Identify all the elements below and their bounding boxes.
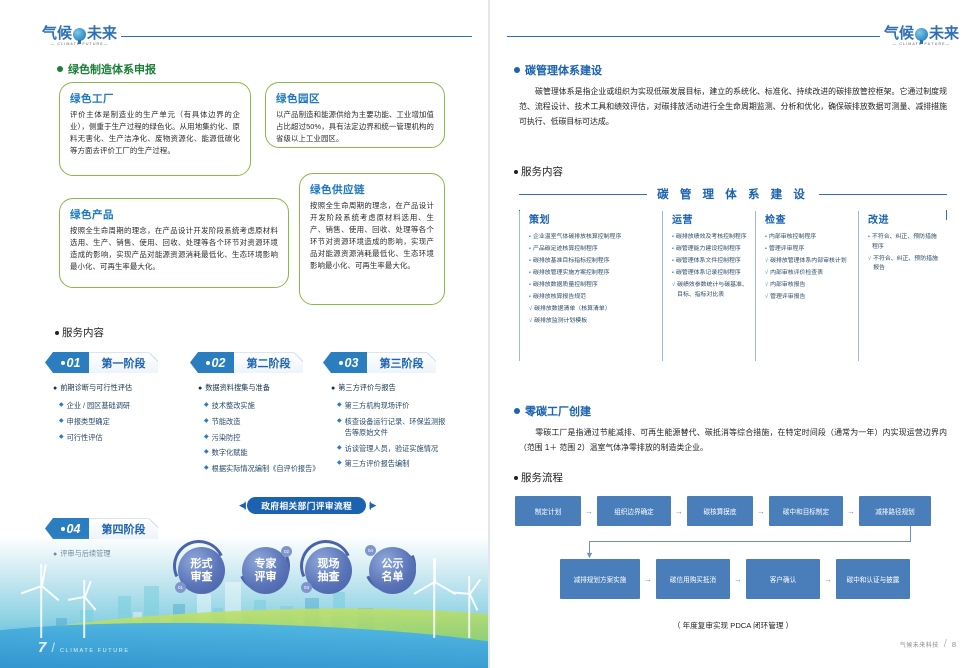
globe-leaf-icon (915, 28, 928, 41)
section-heading-carbon-management: 碳管理体系建设 (514, 62, 602, 78)
diamond-icon: ◆ (337, 416, 342, 427)
wind-turbine-icon (28, 564, 54, 638)
list-item-lead: ● 前期诊断与可行性评估 (45, 382, 185, 395)
column-header: 运营 (672, 211, 749, 226)
review-circle-badge-02: 02 (281, 546, 292, 557)
stage-02: 02 第二阶段 ● 数据资料搜集与准备 ◆ 技术整改实施 ◆ 节能 (190, 352, 318, 479)
subheading-service-flow: 服务流程 (514, 470, 563, 485)
card-body: 评价主体是制造业的生产单元（有具体边界的企业），侧重于生产过程的绿色化。从用地集… (70, 109, 240, 157)
diamond-icon: ◆ (337, 458, 342, 469)
diamond-icon: ◆ (204, 432, 209, 443)
subheading-label: 服务流程 (521, 470, 563, 485)
card-green-park: 绿色园区 以产品制造和能源供给为主要功能、工业增加值占比超过50%，具有法定边界… (265, 82, 445, 148)
wind-turbine-icon (74, 580, 94, 638)
stage-item-list: ● 第三方评价与报告 ◆ 第三方机构现场评价 ◆ 核查设备运行记录、环保监测报告… (323, 382, 451, 470)
list-item-lead: ● 第三方评价与报告 (323, 382, 451, 395)
footer-company-name: 气候未来科技 (900, 640, 939, 649)
column-list: ▪碳排放绩效及考核控制程序 ▪碳管理能力建设控制程序 ▪碳管理体系文件控制程序 … (672, 233, 749, 300)
review-circle-badge-01: 01 (175, 582, 186, 593)
list-item: √碳绩效参数统计与碳基准、目标、指标对比表 (672, 281, 749, 300)
stage-label-text: 第四阶段 (102, 521, 146, 537)
paragraph-carbon-management: 碳管理体系是指企业或组织为实现低碳发展目标，建立的系统化、标准化、持续改进的碳排… (519, 84, 947, 130)
logo-text-cn-b: 未来 (929, 26, 959, 41)
globe-leaf-icon (73, 28, 86, 41)
list-item: √管理评审报告 (765, 293, 852, 303)
arrow-right-icon: → (581, 507, 597, 516)
page-number: 8 (952, 640, 956, 649)
list-item: ▪碳管理体系记录控制程序 (672, 269, 749, 279)
flow-node: 碳中和认证与披露 (836, 559, 910, 599)
bullet-icon (514, 476, 518, 480)
footer-right: 气候未来科技 / 8 (900, 638, 956, 650)
section-heading-label: 绿色制造体系申报 (68, 61, 156, 77)
card-green-supply-chain: 绿色供应链 按照全生命周期的理念，在产品设计开发阶段系统考虑原材料选用、生产、销… (299, 173, 445, 305)
footer-slash: / (944, 638, 947, 650)
arrow-right-icon: → (640, 575, 656, 584)
column-list: ▪内部审核控制程序 ▪管理评审程序 √碳排放管理体系内部审核计划 √内部审核评价… (765, 233, 852, 303)
list-item: ▪碳排放核算报告规范 (529, 293, 656, 303)
matrix-column-planning: 策划 ▪企业温室气体碳排放核算控制程序 ▪产品碳足迹核算控制程序 ▪碳排放基准目… (519, 211, 662, 361)
stage-number-label: 01 (67, 356, 81, 370)
title-rule-right (819, 194, 947, 195)
flow-node: 碳中和目标制定 (769, 496, 843, 526)
list-item: ◆ 污染防控 (190, 432, 318, 443)
list-item: ▪碳排放管理实施方案控制程序 (529, 269, 656, 279)
list-item: √内部审核评价检查表 (765, 269, 852, 279)
list-item: √不符合、纠正、预防措施报告 (868, 255, 941, 274)
diamond-icon: ◆ (204, 400, 209, 411)
flow-connector (589, 541, 911, 542)
column-header: 策划 (529, 211, 656, 226)
stage-number: 01 (45, 352, 89, 373)
bullet-icon: ● (331, 382, 335, 395)
logo-text-cn-a: 气候 (42, 26, 72, 41)
stage-number-label: 03 (345, 356, 359, 370)
stage-item-list: ● 前期诊断与可行性评估 ◆ 企业 / 园区基础调研 ◆ 申报类型确定 ◆ 可行… (45, 382, 185, 443)
review-circle-badge-03: 03 (301, 582, 312, 593)
matrix-columns: 策划 ▪企业温室气体碳排放核算控制程序 ▪产品碳足迹核算控制程序 ▪碳排放基准目… (519, 211, 947, 361)
flow-node: 客户确认 (746, 559, 820, 599)
flow-connector (910, 526, 911, 542)
bullet-icon (514, 408, 520, 414)
matrix-title-row: 碳 管 理 体 系 建 设 (519, 186, 947, 202)
tag-bullet-icon (61, 361, 65, 365)
wind-turbine-icon (420, 558, 448, 638)
stage-label-text: 第一阶段 (102, 355, 146, 371)
tag-corner-icon (149, 353, 158, 362)
review-circle-badge-04: 04 (365, 545, 376, 556)
arrow-down-icon: ▼ (585, 551, 594, 560)
stage-label-text: 第二阶段 (247, 355, 291, 371)
stage-tag: 02 第二阶段 (190, 352, 303, 373)
page-left: 气候 未来 CLIMATE FUTURE 绿色制造体系申报 绿色工厂 评价主体是… (0, 0, 489, 668)
matrix-title: 碳 管 理 体 系 建 设 (647, 186, 819, 202)
brochure-spread: 气候 未来 CLIMATE FUTURE 绿色制造体系申报 绿色工厂 评价主体是… (0, 0, 978, 668)
section-heading-label: 碳管理体系建设 (525, 62, 602, 78)
stage-number-label: 04 (67, 522, 81, 536)
list-item: ▪企业温室气体碳排放核算控制程序 (529, 233, 656, 243)
diamond-icon: ◆ (204, 416, 209, 427)
list-item: ◆ 企业 / 园区基础调研 (45, 400, 185, 411)
page-gutter (488, 0, 490, 668)
bullet-icon (514, 67, 520, 73)
carbon-management-matrix: 碳 管 理 体 系 建 设 策划 ▪企业温室气体碳排放核算控制程序 ▪产品碳足迹… (519, 186, 947, 361)
bullet-icon (57, 66, 63, 72)
list-item: ◆ 第三方评价报告编制 (323, 458, 451, 469)
list-item: ▪内部审核控制程序 (765, 233, 852, 243)
subheading-service-content-left: 服务内容 (55, 325, 104, 340)
bullet-icon (514, 170, 518, 174)
paragraph-text: 零碳工厂是指通过节能减排、可再生能源替代、碳抵消等综合措施，在特定时间段（通常为… (519, 428, 947, 452)
footer-slash: / (51, 640, 55, 655)
bullet-icon (55, 331, 59, 335)
flow-node: 制定计划 (515, 496, 581, 526)
header-logo-right: 气候 未来 CLIMATE FUTURE (507, 26, 959, 46)
government-review-ribbon: ◀| 政府相关部门评审流程 |▶ (239, 497, 374, 514)
tag-bullet-icon (206, 361, 210, 365)
footer-caption: CLIMATE FUTURE (60, 648, 130, 654)
diamond-icon: ◆ (204, 447, 209, 458)
column-list: ▪不符合、纠正、预防措施程序 √不符合、纠正、预防措施报告 (868, 233, 941, 274)
card-body: 按照全生命周期的理念，在产品设计开发阶段系统考虑原材料选用、生产、销售、使用、回… (70, 225, 278, 273)
diamond-icon: ◆ (204, 463, 209, 474)
matrix-column-check: 检查 ▪内部审核控制程序 ▪管理评审程序 √碳排放管理体系内部审核计划 √内部审… (755, 211, 858, 361)
diamond-icon: ◆ (59, 432, 64, 443)
flow-node: 碳核算摸底 (687, 496, 753, 526)
list-item: √内部审核报告 (765, 281, 852, 291)
flow-node: 减排路径规划 (859, 496, 931, 526)
arrow-right-icon: → (753, 507, 769, 516)
matrix-column-improvement: 改进 ▪不符合、纠正、预防措施程序 √不符合、纠正、预防措施报告 (858, 211, 947, 361)
bullet-icon: ● (198, 382, 202, 395)
list-item: ◆ 申报类型确定 (45, 416, 185, 427)
flow-node: 碳信用购买抵消 (656, 559, 730, 599)
list-item: ▪产品碳足迹核算控制程序 (529, 245, 656, 255)
title-rule-left (519, 194, 647, 195)
card-title: 绿色产品 (70, 207, 278, 222)
subheading-label: 服务内容 (521, 164, 563, 179)
stage-label: 第一阶段 (89, 352, 158, 373)
wind-turbine-icon (458, 576, 480, 638)
section-heading-label: 零碳工厂创建 (525, 403, 591, 419)
section-heading-zero-carbon-factory: 零碳工厂创建 (514, 403, 591, 419)
list-item: ▪碳排放绩效及考核控制程序 (672, 233, 749, 243)
list-item: ◆ 可行性评估 (45, 432, 185, 443)
list-item: ◆ 第三方机构现场评价 (323, 400, 451, 411)
review-circle-04: 公示 名单 (369, 547, 416, 594)
matrix-column-operation: 运营 ▪碳排放绩效及考核控制程序 ▪碳管理能力建设控制程序 ▪碳管理体系文件控制… (662, 211, 755, 361)
arrow-right-icon: → (730, 575, 746, 584)
stage-03: 03 第三阶段 ● 第三方评价与报告 ◆ 第三方机构现场评价 ◆ (323, 352, 451, 474)
column-header: 改进 (868, 211, 941, 226)
stage-01: 01 第一阶段 ● 前期诊断与可行性评估 ◆ 企业 / 园区基础调研 ◆ (45, 352, 185, 447)
stage-number: 02 (190, 352, 234, 373)
logo-text-cn-a: 气候 (884, 26, 914, 41)
diamond-icon: ◆ (337, 443, 342, 454)
subheading-service-content-right: 服务内容 (514, 164, 563, 179)
brand-logo: 气候 未来 CLIMATE FUTURE (42, 26, 117, 46)
arrow-right-icon: |▶ (369, 500, 374, 511)
brand-logo: 气候 未来 CLIMATE FUTURE (884, 26, 959, 46)
matrix-body: 策划 ▪企业温室气体碳排放核算控制程序 ▪产品碳足迹核算控制程序 ▪碳排放基准目… (519, 211, 947, 361)
card-title: 绿色园区 (276, 91, 434, 106)
column-list: ▪企业温室气体碳排放核算控制程序 ▪产品碳足迹核算控制程序 ▪碳排放基准目标指标… (529, 233, 656, 327)
list-item: ◆ 访谈管理人员，验证实施情况 (323, 443, 451, 454)
card-green-product: 绿色产品 按照全生命周期的理念，在产品设计开发阶段系统考虑原材料选用、生产、销售… (59, 198, 289, 288)
arrow-right-icon: → (820, 575, 836, 584)
arrow-right-icon: → (671, 507, 687, 516)
arrow-left-icon: ◀| (239, 500, 244, 511)
list-item: ◆ 节能改造 (190, 416, 318, 427)
list-item: √碳排放管理体系内部审核计划 (765, 257, 852, 267)
card-body: 以产品制造和能源供给为主要功能、工业增加值占比超过50%，具有法定边界和统一管理… (276, 109, 434, 145)
diamond-icon: ◆ (59, 416, 64, 427)
tag-bullet-icon (61, 527, 65, 531)
service-flow-chart: 制定计划 → 组织边界确定 → 碳核算摸底 → 碳中和目标制定 → 减排路径规划… (515, 496, 951, 599)
stage-label: 第二阶段 (234, 352, 303, 373)
stage-number-label: 02 (212, 356, 226, 370)
diamond-icon: ◆ (337, 400, 342, 411)
ribbon-label: 政府相关部门评审流程 (247, 497, 366, 514)
tag-corner-icon (149, 519, 158, 528)
review-circle-03: 现场 抽查 (305, 547, 352, 594)
flow-node: 减排规划方案实施 (560, 559, 640, 599)
column-header: 检查 (765, 211, 852, 226)
flow-row-2: 减排规划方案实施 → 碳信用购买抵消 → 客户确认 → 碳中和认证与披露 (560, 559, 951, 599)
subheading-label: 服务内容 (62, 325, 104, 340)
list-item: ◆ 核查设备运行记录、环保监测报告等原始文件 (323, 416, 451, 438)
list-item: ▪碳排放数据质量控制程序 (529, 281, 656, 291)
list-item: ▪碳排放基准目标指标控制程序 (529, 257, 656, 267)
flow-note: （ 年度复审实现 PDCA 闭环管理 ） (515, 620, 951, 631)
tag-bullet-icon (339, 361, 343, 365)
header-rule (121, 36, 472, 37)
list-item: ▪管理评审程序 (765, 245, 852, 255)
flow-node: 组织边界确定 (597, 496, 671, 526)
stage-label-text: 第三阶段 (380, 355, 424, 371)
stage-tag: 03 第三阶段 (323, 352, 436, 373)
list-item: √碳排放监测计划模板 (529, 317, 656, 327)
stage-label: 第三阶段 (367, 352, 436, 373)
diamond-icon: ◆ (59, 400, 64, 411)
tag-corner-icon (427, 353, 436, 362)
list-item-lead: ● 数据资料搜集与准备 (190, 382, 318, 395)
card-green-factory: 绿色工厂 评价主体是制造业的生产单元（有具体边界的企业），侧重于生产过程的绿色化… (59, 82, 251, 176)
card-title: 绿色供应链 (310, 182, 434, 197)
list-item: ◆ 根据实际情况编制《自评价报告》 (190, 463, 318, 474)
list-item: ▪碳管理能力建设控制程序 (672, 245, 749, 255)
header-rule (507, 36, 880, 37)
card-body: 按照全生命周期的理念，在产品设计开发阶段系统考虑原材料选用、生产、销售、使用、回… (310, 200, 434, 272)
list-item: ◆ 技术整改实施 (190, 400, 318, 411)
footer-left: 7 / CLIMATE FUTURE (38, 639, 130, 656)
arrow-right-icon: → (843, 507, 859, 516)
page-number: 7 (38, 639, 46, 656)
card-title: 绿色工厂 (70, 91, 240, 106)
paragraph-zero-carbon-factory: 零碳工厂是指通过节能减排、可再生能源替代、碳抵消等综合措施，在特定时间段（通常为… (519, 425, 947, 455)
section-heading-green-manufacturing: 绿色制造体系申报 (57, 61, 156, 77)
paragraph-text: 碳管理体系是指企业或组织为实现低碳发展目标，建立的系统化、标准化、持续改进的碳排… (519, 87, 947, 126)
tag-corner-icon (294, 353, 303, 362)
stage-item-list: ● 数据资料搜集与准备 ◆ 技术整改实施 ◆ 节能改造 ◆ 污染防控 ◆ 数 (190, 382, 318, 475)
list-item: ◆ 数字化赋能 (190, 447, 318, 458)
stage-number: 03 (323, 352, 367, 373)
page-right: 气候 未来 CLIMATE FUTURE 碳管理体系建设 碳管理体系是指企业或组… (489, 0, 978, 668)
stage-tag: 01 第一阶段 (45, 352, 158, 373)
list-item: ▪不符合、纠正、预防措施程序 (868, 233, 941, 252)
list-item: ▪碳管理体系文件控制程序 (672, 257, 749, 267)
flow-row-1: 制定计划 → 组织边界确定 → 碳核算摸底 → 碳中和目标制定 → 减排路径规划 (515, 496, 951, 526)
logo-text-cn-b: 未来 (87, 26, 117, 41)
bullet-icon: ● (53, 382, 57, 395)
header-logo-left: 气候 未来 CLIMATE FUTURE (42, 26, 472, 46)
list-item: √碳排放数据清单（核算清单） (529, 305, 656, 315)
